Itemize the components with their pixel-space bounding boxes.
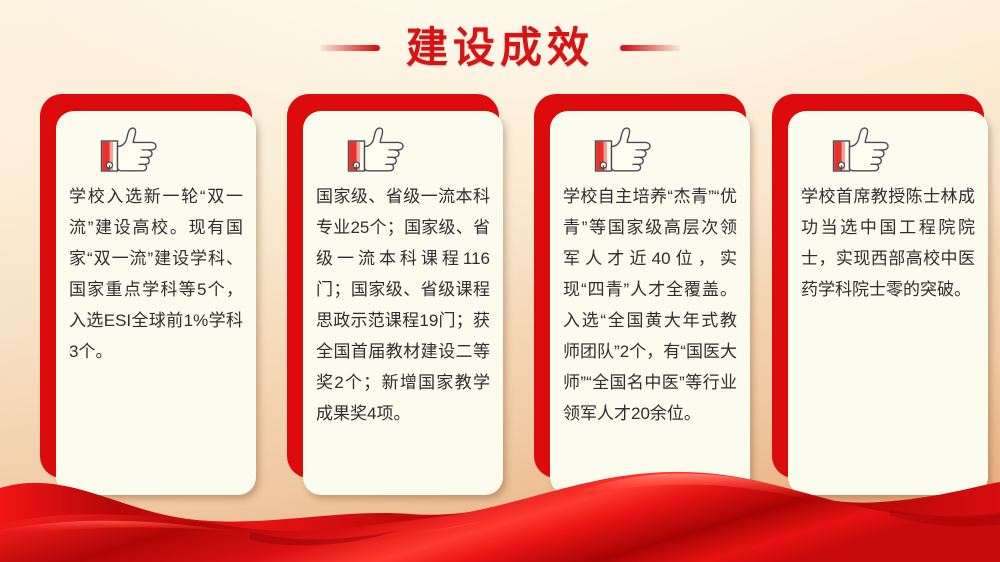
card-text: 学校首席教授陈士林成功当选中国工程院院士，实现西部高校中医药学科院士零的突破。 [801,181,975,305]
card-panel: 学校首席教授陈士林成功当选中国工程院院士，实现西部高校中医药学科院士零的突破。 [788,111,988,495]
page-title-block: 建设成效 [0,19,1000,77]
card-list: 学校入选新一轮“双一流”建设高校。现有国家“双一流”建设学科、国家重点学科等5个… [0,94,1000,494]
card-panel: 学校入选新一轮“双一流”建设高校。现有国家“双一流”建设学科、国家重点学科等5个… [56,111,256,495]
slide-canvas: 建设成效 学校入选新一轮“双一流”建设高校。现有国家“双一流”建设学科、国家重点… [0,0,1000,562]
thumbs-up-icon [99,125,161,175]
card-item[interactable]: 学校首席教授陈士林成功当选中国工程院院士，实现西部高校中医药学科院士零的突破。 [772,94,984,478]
thumbs-up-icon [593,125,655,175]
title-dash-left-icon [320,45,380,51]
card-item[interactable]: 学校自主培养“杰青”“优青”等国家级高层次领军人才近40位，实现“四青”人才全覆… [534,94,746,478]
page-title: 建设成效 [406,27,594,69]
card-text: 学校入选新一轮“双一流”建设高校。现有国家“双一流”建设学科、国家重点学科等5个… [69,181,243,367]
card-item[interactable]: 国家级、省级一流本科专业25个；国家级、省级一流本科课程116门；国家级、省级课… [287,94,499,478]
card-item[interactable]: 学校入选新一轮“双一流”建设高校。现有国家“双一流”建设学科、国家重点学科等5个… [40,94,252,478]
thumbs-up-icon [831,125,893,175]
thumbs-up-icon [346,125,408,175]
title-dash-right-icon [620,45,680,51]
card-panel: 国家级、省级一流本科专业25个；国家级、省级一流本科课程116门；国家级、省级课… [303,111,503,495]
card-text: 学校自主培养“杰青”“优青”等国家级高层次领军人才近40位，实现“四青”人才全覆… [563,181,737,429]
card-panel: 学校自主培养“杰青”“优青”等国家级高层次领军人才近40位，实现“四青”人才全覆… [550,111,750,495]
card-text: 国家级、省级一流本科专业25个；国家级、省级一流本科课程116门；国家级、省级课… [316,181,490,429]
